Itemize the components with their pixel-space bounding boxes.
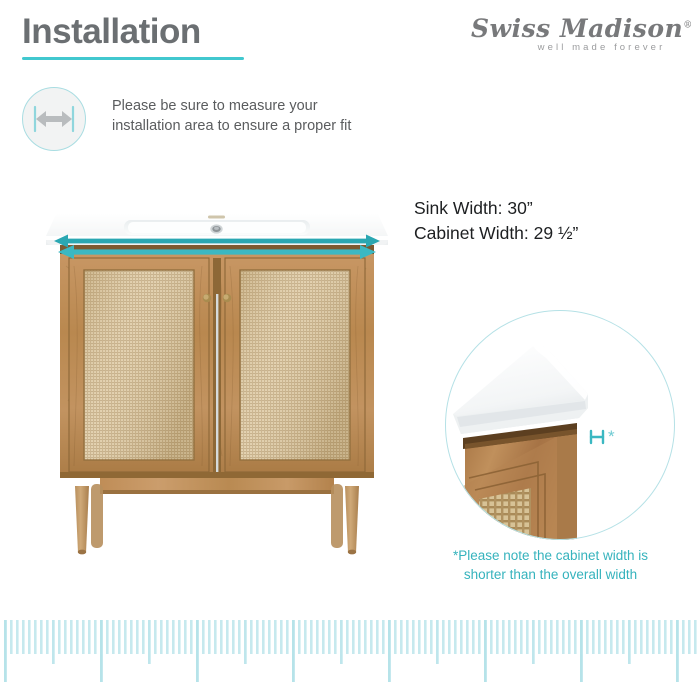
ruler-tick <box>172 620 175 654</box>
cabinet-width-footnote-line-2: shorter than the overall width <box>408 565 693 584</box>
ruler-tick <box>94 620 97 654</box>
ruler-tick <box>22 620 25 654</box>
ruler-tick <box>250 620 253 654</box>
ruler-tick <box>118 620 121 654</box>
ruler-tick <box>34 620 37 654</box>
double-arrow-measure-icon <box>22 87 86 151</box>
ruler-tick <box>328 620 331 654</box>
ruler-tick <box>586 620 589 654</box>
brand-logo: Swiss Madison® well made forever <box>471 16 686 53</box>
ruler-tick <box>520 620 523 654</box>
ruler-tick <box>58 620 61 654</box>
ruler-tick <box>16 620 19 654</box>
ruler-tick <box>598 620 601 654</box>
ruler-tick <box>184 620 187 654</box>
ruler-tick <box>580 620 583 682</box>
ruler-tick <box>190 620 193 654</box>
ruler-tick <box>202 620 205 654</box>
measure-notice: Please be sure to measure your installat… <box>20 84 420 154</box>
ruler-tick <box>490 620 493 654</box>
ruler-tick <box>382 620 385 654</box>
ruler-tick <box>430 620 433 654</box>
ruler-tick <box>502 620 505 654</box>
cabinet-width-label: Cabinet Width: 29 ½” <box>414 221 578 246</box>
ruler-tick <box>472 620 475 654</box>
vanity-illustration <box>36 196 398 556</box>
ruler-tick <box>112 620 115 654</box>
sink-width-label: Sink Width: 30” <box>414 196 578 221</box>
brand-name: Swiss Madison® <box>471 16 686 41</box>
ruler-tick <box>358 620 361 654</box>
ruler-tick <box>160 620 163 654</box>
brand-name-text: Swiss Madison <box>471 14 683 43</box>
ruler-tick <box>616 620 619 654</box>
ruler-tick <box>538 620 541 654</box>
ruler-tick <box>550 620 553 654</box>
title-underline <box>22 57 244 60</box>
ruler-decoration <box>0 612 700 700</box>
page-title: Installation <box>22 14 201 49</box>
ruler-tick <box>418 620 421 654</box>
ruler-tick <box>508 620 511 654</box>
brand-tagline: well made forever <box>517 42 686 53</box>
ruler-tick <box>28 620 31 654</box>
ruler-tick <box>694 620 697 654</box>
ruler-tick <box>46 620 49 654</box>
ruler-tick <box>178 620 181 654</box>
cabinet-door-right[interactable] <box>225 258 365 472</box>
ruler-tick <box>442 620 445 654</box>
cabinet-width-footnote: *Please note the cabinet width is shorte… <box>408 546 693 584</box>
cabinet-width-footnote-line-1: *Please note the cabinet width is <box>408 546 693 565</box>
ruler-tick <box>658 620 661 654</box>
ruler-tick <box>82 620 85 654</box>
ruler-tick <box>154 620 157 654</box>
ruler-tick <box>346 620 349 654</box>
detail-zoom-circle: * <box>445 310 675 540</box>
ruler-tick <box>652 620 655 654</box>
measure-notice-line-2: installation area to ensure a proper fit <box>112 116 412 136</box>
ruler-tick <box>352 620 355 654</box>
ruler-tick <box>304 620 307 654</box>
ruler-tick <box>412 620 415 654</box>
ruler-tick <box>298 620 301 654</box>
ruler-tick <box>40 620 43 654</box>
measure-notice-line-1: Please be sure to measure your <box>112 96 412 116</box>
ruler-tick <box>226 620 229 654</box>
leg-front-left <box>75 486 89 553</box>
ruler-tick <box>604 620 607 654</box>
ruler-tick <box>340 620 343 664</box>
ruler-tick <box>610 620 613 654</box>
ruler-tick <box>376 620 379 654</box>
ruler-tick <box>52 620 55 664</box>
ruler-tick <box>646 620 649 654</box>
ruler-tick <box>478 620 481 654</box>
dimension-labels: Sink Width: 30” Cabinet Width: 29 ½” <box>414 196 578 247</box>
ruler-tick <box>460 620 463 654</box>
ruler-tick <box>532 620 535 664</box>
ruler-tick <box>88 620 91 654</box>
cabinet-body <box>60 245 374 494</box>
ruler-tick <box>274 620 277 654</box>
ruler-tick <box>640 620 643 654</box>
ruler-tick <box>670 620 673 654</box>
leg-front-right <box>345 486 359 553</box>
ruler-tick <box>136 620 139 654</box>
ruler-tick <box>544 620 547 654</box>
ruler-tick <box>244 620 247 664</box>
ruler-tick <box>556 620 559 654</box>
ruler-tick <box>634 620 637 654</box>
ruler-tick <box>4 620 7 682</box>
ruler-tick <box>268 620 271 654</box>
ruler-tick <box>370 620 373 654</box>
ruler-tick <box>100 620 103 682</box>
ruler-tick <box>280 620 283 654</box>
ruler-tick <box>574 620 577 654</box>
ruler-tick <box>436 620 439 664</box>
ruler-tick <box>448 620 451 654</box>
ruler-tick <box>124 620 127 654</box>
ruler-tick <box>484 620 487 682</box>
ruler-tick <box>70 620 73 654</box>
ruler-tick <box>238 620 241 654</box>
ruler-tick <box>496 620 499 654</box>
ruler-tick <box>166 620 169 654</box>
ruler-tick <box>664 620 667 654</box>
ruler-tick <box>292 620 295 682</box>
ruler-tick <box>214 620 217 654</box>
ruler-tick <box>688 620 691 654</box>
ruler-tick <box>454 620 457 654</box>
ruler-tick <box>10 620 13 654</box>
ruler-tick <box>562 620 565 654</box>
ruler-tick <box>142 620 145 654</box>
ruler-tick <box>394 620 397 654</box>
ruler-tick <box>514 620 517 654</box>
ruler-tick <box>676 620 679 682</box>
ruler-tick <box>130 620 133 654</box>
ruler-tick <box>682 620 685 654</box>
ruler-tick <box>262 620 265 654</box>
detail-circle-border <box>445 310 675 540</box>
ruler-tick <box>364 620 367 654</box>
ruler-tick <box>466 620 469 654</box>
registered-trademark-icon: ® <box>683 21 693 31</box>
ruler-tick <box>424 620 427 654</box>
cabinet-door-left[interactable] <box>69 258 209 472</box>
ruler-tick <box>232 620 235 654</box>
ruler-tick <box>286 620 289 654</box>
measure-notice-text: Please be sure to measure your installat… <box>112 96 412 136</box>
ruler-tick <box>316 620 319 654</box>
ruler-tick <box>388 620 391 682</box>
ruler-tick <box>106 620 109 654</box>
ruler-tick <box>592 620 595 654</box>
ruler-tick <box>310 620 313 654</box>
ruler-tick <box>220 620 223 654</box>
ruler-tick <box>526 620 529 654</box>
ruler-tick <box>64 620 67 654</box>
ruler-tick <box>196 620 199 682</box>
ruler-tick <box>628 620 631 664</box>
cabinet-legs <box>75 484 359 554</box>
installation-page: Installation Swiss Madison® well made fo… <box>0 0 700 700</box>
ruler-tick <box>76 620 79 654</box>
ruler-tick <box>322 620 325 654</box>
ruler-tick <box>568 620 571 654</box>
ruler-tick <box>256 620 259 654</box>
ruler-tick <box>406 620 409 654</box>
ruler-tick <box>148 620 151 664</box>
ruler-tick <box>334 620 337 654</box>
ruler-tick <box>208 620 211 654</box>
ruler-tick <box>400 620 403 654</box>
ruler-tick <box>622 620 625 654</box>
